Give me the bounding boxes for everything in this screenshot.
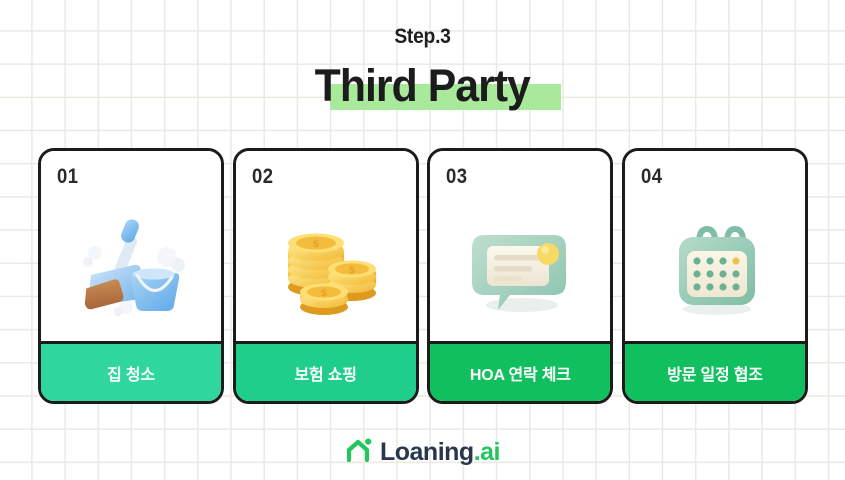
step-label: Step.3 xyxy=(34,25,811,49)
card-label: 집 청소 xyxy=(41,341,221,401)
card-item-01[interactable]: 01 xyxy=(38,148,224,404)
page-title: Third Party xyxy=(0,59,845,113)
calendar-icon xyxy=(625,203,805,333)
card-label: 보험 쇼핑 xyxy=(236,341,416,401)
card-top-03: 03 xyxy=(430,151,610,341)
card-item-04[interactable]: 04 xyxy=(622,148,808,404)
card-list: 01 xyxy=(38,148,808,404)
logo-suffix: .ai xyxy=(474,438,500,466)
svg-text:$: $ xyxy=(312,237,320,250)
card-number: 01 xyxy=(57,165,78,189)
card-number: 03 xyxy=(446,165,467,189)
card-top-02: 02 xyxy=(236,151,416,341)
house-logo-icon xyxy=(345,437,373,468)
card-item-02[interactable]: 02 xyxy=(233,148,419,404)
coin-stacks-icon: $ $ xyxy=(236,203,416,333)
logo-text: Loaning.ai xyxy=(380,440,500,465)
logo-name: Loaning xyxy=(380,438,474,466)
slide-canvas: Step.3 Third Party 01 xyxy=(0,0,845,480)
brand-logo: Loaning.ai xyxy=(0,437,845,468)
card-label: 방문 일정 협조 xyxy=(625,341,805,401)
card-number: 02 xyxy=(252,165,273,189)
card-label: HOA 연락 체크 xyxy=(430,341,610,401)
svg-text:$: $ xyxy=(348,265,355,276)
card-item-03[interactable]: 03 xyxy=(427,148,613,404)
svg-text:$: $ xyxy=(320,288,327,299)
title-text: Third Party xyxy=(315,59,530,113)
card-number: 04 xyxy=(641,165,662,189)
broom-and-bucket-icon xyxy=(41,203,221,333)
card-top-01: 01 xyxy=(41,151,221,341)
chat-bubble-icon xyxy=(430,203,610,333)
card-top-04: 04 xyxy=(625,151,805,341)
